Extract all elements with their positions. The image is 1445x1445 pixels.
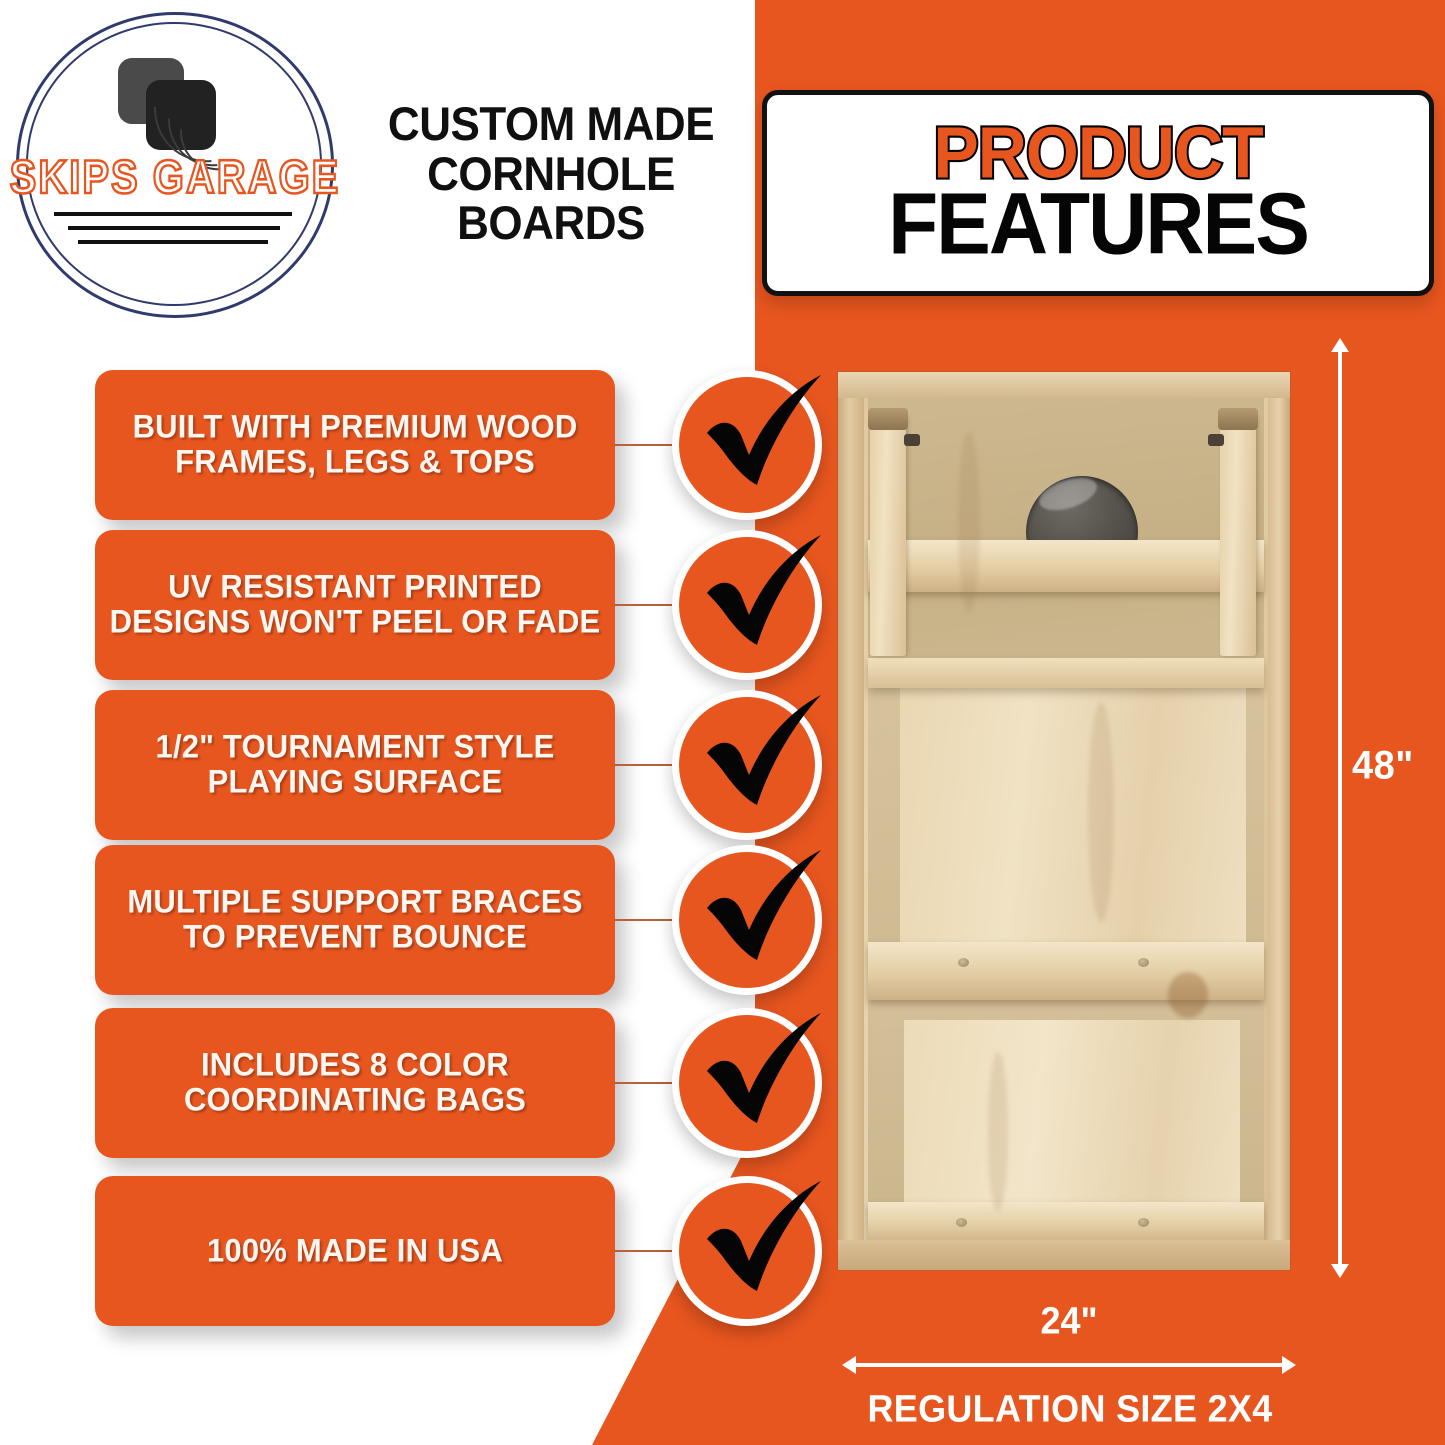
check-icon	[685, 999, 835, 1149]
brace-screw	[1138, 1218, 1149, 1227]
width-dimension-label: 24"	[854, 1299, 1284, 1344]
check-icon	[685, 681, 835, 831]
check-icon	[685, 1167, 835, 1317]
brace-screw	[958, 958, 969, 967]
checkmark-badge	[672, 690, 822, 840]
infographic-page: SKIPS GARAGE CUSTOM MADE CORNHOLE BOARDS…	[0, 0, 1445, 1445]
board-frame-bottom	[838, 1240, 1290, 1270]
feature-row-playing-surface: 1/2" TOURNAMENT STYLE PLAYING SURFACE	[0, 690, 830, 840]
feature-row-made-in-usa: 100% MADE IN USA	[0, 1176, 830, 1326]
feature-pill-label: BUILT WITH PREMIUM WOOD FRAMES, LEGS & T…	[95, 410, 615, 480]
leg-bolt-right	[1208, 434, 1224, 446]
brace-screw	[956, 1218, 967, 1227]
wood-knot	[1168, 972, 1208, 1018]
feature-pill[interactable]: 100% MADE IN USA	[95, 1176, 615, 1326]
page-title-line-1: CUSTOM MADE	[352, 98, 750, 152]
check-icon	[685, 521, 835, 671]
board-frame-right	[1268, 372, 1290, 1270]
board-frame-left	[838, 372, 864, 1270]
arrow-left-icon	[842, 1356, 856, 1374]
checkmark-badge	[672, 1008, 822, 1158]
feature-pill[interactable]: UV RESISTANT PRINTED DESIGNS WON'T PEEL …	[95, 530, 615, 680]
wood-grain	[988, 1052, 1008, 1212]
wood-grain	[958, 432, 980, 612]
cornhole-board-photo	[838, 372, 1290, 1270]
checkmark-badge	[672, 530, 822, 680]
feature-row-premium-wood: BUILT WITH PREMIUM WOOD FRAMES, LEGS & T…	[0, 370, 830, 520]
feature-pill-label: 100% MADE IN USA	[195, 1234, 515, 1269]
arrow-right-icon	[1282, 1356, 1296, 1374]
regulation-size-label: REGULATION SIZE 2X4	[820, 1387, 1320, 1432]
feature-pill[interactable]: INCLUDES 8 COLOR COORDINATING BAGS	[95, 1008, 615, 1158]
logo-rule-2	[68, 226, 280, 230]
brand-logo: SKIPS GARAGE	[10, 8, 340, 318]
folding-leg-right	[1220, 416, 1256, 656]
checkmark-badge	[672, 845, 822, 995]
feature-row-included-bags: INCLUDES 8 COLOR COORDINATING BAGS	[0, 1008, 830, 1158]
logo-rule-1	[54, 212, 292, 216]
leg-bracket-right	[1218, 408, 1258, 430]
arrow-down-icon	[1331, 1264, 1349, 1278]
page-title-line-3: BOARDS	[352, 197, 750, 251]
check-icon	[685, 836, 835, 986]
width-dimension-arrow	[854, 1363, 1284, 1367]
feature-pill[interactable]: BUILT WITH PREMIUM WOOD FRAMES, LEGS & T…	[95, 370, 615, 520]
checkmark-badge	[672, 370, 822, 520]
height-dimension-label: 48"	[1352, 744, 1414, 790]
arrow-up-icon	[1331, 338, 1349, 352]
support-brace-lower	[868, 1202, 1264, 1244]
page-title-line-2: CORNHOLE	[352, 148, 750, 202]
checkmark-badge	[672, 1176, 822, 1326]
board-plywood-face-bottom	[904, 1020, 1240, 1232]
feature-pill[interactable]: MULTIPLE SUPPORT BRACES TO PREVENT BOUNC…	[95, 845, 615, 995]
feature-row-uv-resistant: UV RESISTANT PRINTED DESIGNS WON'T PEEL …	[0, 530, 830, 680]
feature-pill[interactable]: 1/2" TOURNAMENT STYLE PLAYING SURFACE	[95, 690, 615, 840]
board-shelf-upper	[868, 658, 1264, 688]
board-plywood-face-middle	[900, 688, 1246, 950]
feature-pill-label: INCLUDES 8 COLOR COORDINATING BAGS	[95, 1048, 615, 1118]
wood-grain	[1088, 702, 1114, 922]
check-icon	[685, 361, 835, 511]
feature-pill-label: 1/2" TOURNAMENT STYLE PLAYING SURFACE	[95, 730, 615, 800]
leg-bracket-left	[868, 408, 908, 430]
logo-rule-3	[78, 240, 268, 244]
brace-screw	[1138, 958, 1149, 967]
feature-pill-label: UV RESISTANT PRINTED DESIGNS WON'T PEEL …	[95, 570, 615, 640]
support-brace-upper	[868, 540, 1264, 592]
badge-word-features: FEATURES	[888, 184, 1308, 267]
page-title: CUSTOM MADE CORNHOLE BOARDS	[352, 100, 750, 249]
board-frame-top	[838, 372, 1290, 398]
feature-pill-label: MULTIPLE SUPPORT BRACES TO PREVENT BOUNC…	[95, 885, 615, 955]
folding-leg-left	[870, 416, 906, 656]
product-features-badge: PRODUCT FEATURES	[762, 90, 1434, 296]
logo-wordmark: SKIPS GARAGE	[8, 152, 342, 205]
leg-bolt-left	[904, 434, 920, 446]
feature-row-support-braces: MULTIPLE SUPPORT BRACES TO PREVENT BOUNC…	[0, 845, 830, 995]
height-dimension-arrow	[1338, 350, 1342, 1266]
